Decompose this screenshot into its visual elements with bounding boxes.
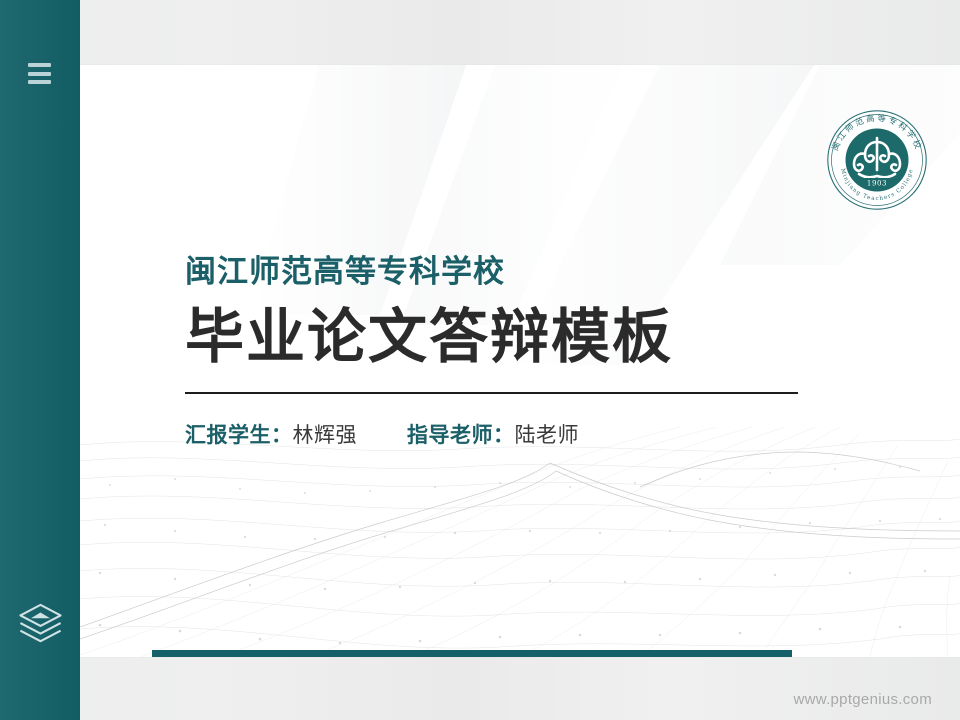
advisor-name: 陆老师 [515, 419, 580, 449]
presenter-label: 汇报学生： [185, 419, 293, 449]
presenter-field: 汇报学生： 林辉强 [185, 419, 357, 449]
svg-text:1903: 1903 [867, 179, 887, 187]
advisor-label: 指导老师： [407, 419, 515, 449]
presentation-slide: 1903 闽江师范高等专科学校 Minjiang Teachers Colleg… [0, 0, 960, 720]
hamburger-bar [28, 72, 51, 76]
hamburger-icon[interactable] [28, 63, 51, 84]
bottom-accent-bar [152, 650, 792, 657]
school-name-text: 闽江师范高等专科学校 [185, 255, 905, 291]
logo-year: 1903 [864, 178, 890, 187]
slide-card: 1903 闽江师范高等专科学校 Minjiang Teachers Colleg… [80, 65, 960, 657]
footer-url: www.pptgenius.com [794, 691, 933, 708]
presenter-name: 林辉强 [293, 419, 358, 449]
dotted-wave-mesh-graphic [80, 427, 960, 657]
title-divider [185, 392, 798, 394]
page-title: 毕业论文答辩模板 [185, 305, 905, 370]
meta-row: 汇报学生： 林辉强 指导老师： 陆老师 [185, 419, 905, 449]
hamburger-bar [28, 80, 51, 84]
layers-icon[interactable] [17, 602, 64, 646]
advisor-field: 指导老师： 陆老师 [407, 419, 579, 449]
title-text-block: 闽江师范高等专科学校 毕业论文答辩模板 汇报学生： 林辉强 指导老师： 陆老师 [185, 255, 905, 449]
hamburger-bar [28, 63, 51, 67]
school-seal-logo: 1903 闽江师范高等专科学校 Minjiang Teachers Colleg… [825, 108, 929, 212]
left-sidebar [0, 0, 80, 720]
